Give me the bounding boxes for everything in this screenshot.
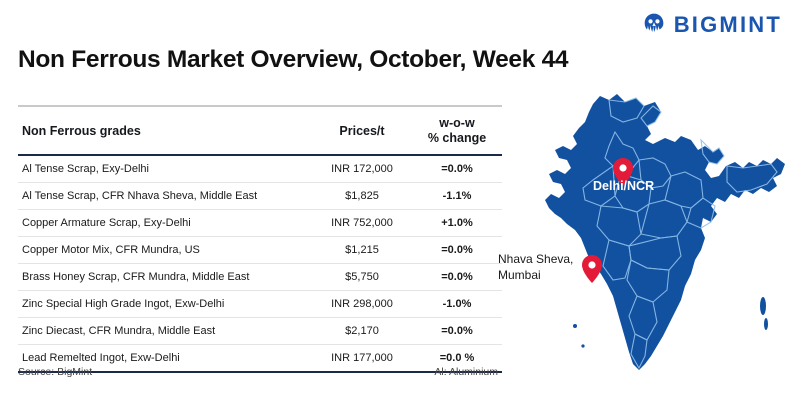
table-footer: Source: BigMint Al: Aluminium — [18, 366, 498, 378]
cell-price: $1,825 — [312, 182, 412, 209]
price-table-container: Non Ferrous grades Prices/t w-o-w % chan… — [18, 105, 498, 373]
cell-grade: Brass Honey Scrap, CFR Mundra, Middle Ea… — [18, 263, 312, 290]
cell-grade: Copper Armature Scrap, Exy-Delhi — [18, 209, 312, 236]
table-row: Zinc Diecast, CFR Mundra, Middle East$2,… — [18, 317, 502, 344]
brand-logo-text: BIGMINT — [674, 14, 782, 36]
cell-change: -1.0% — [412, 290, 502, 317]
abbreviation-note: Al: Aluminium — [434, 366, 498, 378]
cell-change: =0.0% — [412, 263, 502, 290]
cell-price: INR 752,000 — [312, 209, 412, 236]
cell-price: $1,215 — [312, 236, 412, 263]
table-header-row: Non Ferrous grades Prices/t w-o-w % chan… — [18, 106, 502, 155]
cell-price: $5,750 — [312, 263, 412, 290]
india-map: Delhi/NCR Nhava Sheva, Mumbai — [505, 88, 795, 388]
cell-grade: Zinc Special High Grade Ingot, Exw-Delhi — [18, 290, 312, 317]
price-table: Non Ferrous grades Prices/t w-o-w % chan… — [18, 105, 502, 373]
page-title: Non Ferrous Market Overview, October, We… — [18, 46, 568, 74]
column-header-change-line2: % change — [412, 131, 502, 146]
cell-price: INR 298,000 — [312, 290, 412, 317]
map-label-delhi: Delhi/NCR — [593, 179, 654, 193]
table-header: Non Ferrous grades Prices/t w-o-w % chan… — [18, 106, 502, 155]
table-row: Al Tense Scrap, CFR Nhava Sheva, Middle … — [18, 182, 502, 209]
brand-logo: BIGMINT — [641, 12, 782, 38]
table-row: Copper Motor Mix, CFR Mundra, US$1,215=0… — [18, 236, 502, 263]
cell-change: +1.0% — [412, 209, 502, 236]
table-row: Brass Honey Scrap, CFR Mundra, Middle Ea… — [18, 263, 502, 290]
map-label-nhava-sheva: Nhava Sheva, Mumbai — [498, 251, 573, 283]
table-body: Al Tense Scrap, Exy-DelhiINR 172,000=0.0… — [18, 155, 502, 372]
cell-grade: Al Tense Scrap, CFR Nhava Sheva, Middle … — [18, 182, 312, 209]
infographic-page: BIGMINT Non Ferrous Market Overview, Oct… — [0, 0, 800, 400]
cell-change: =0.0% — [412, 317, 502, 344]
table-row: Al Tense Scrap, Exy-DelhiINR 172,000=0.0… — [18, 155, 502, 183]
table-row: Zinc Special High Grade Ingot, Exw-Delhi… — [18, 290, 502, 317]
india-map-svg — [505, 88, 795, 388]
bigmint-emblem-icon — [641, 12, 667, 38]
cell-grade: Copper Motor Mix, CFR Mundra, US — [18, 236, 312, 263]
cell-price: INR 172,000 — [312, 155, 412, 183]
cell-grade: Al Tense Scrap, Exy-Delhi — [18, 155, 312, 183]
cell-change: =0.0% — [412, 155, 502, 183]
india-landmass — [545, 94, 785, 370]
column-header-change: w-o-w % change — [412, 106, 502, 155]
column-header-price: Prices/t — [312, 106, 412, 155]
cell-price: $2,170 — [312, 317, 412, 344]
table-row: Copper Armature Scrap, Exy-DelhiINR 752,… — [18, 209, 502, 236]
column-header-change-line1: w-o-w — [412, 116, 502, 131]
map-label-nhava-line2: Mumbai — [498, 267, 573, 283]
cell-change: -1.1% — [412, 182, 502, 209]
column-header-grade: Non Ferrous grades — [18, 106, 312, 155]
cell-change: =0.0% — [412, 236, 502, 263]
map-label-nhava-line1: Nhava Sheva, — [498, 251, 573, 267]
source-note: Source: BigMint — [18, 366, 92, 378]
cell-grade: Zinc Diecast, CFR Mundra, Middle East — [18, 317, 312, 344]
map-pin-nhava-sheva[interactable] — [582, 255, 602, 283]
